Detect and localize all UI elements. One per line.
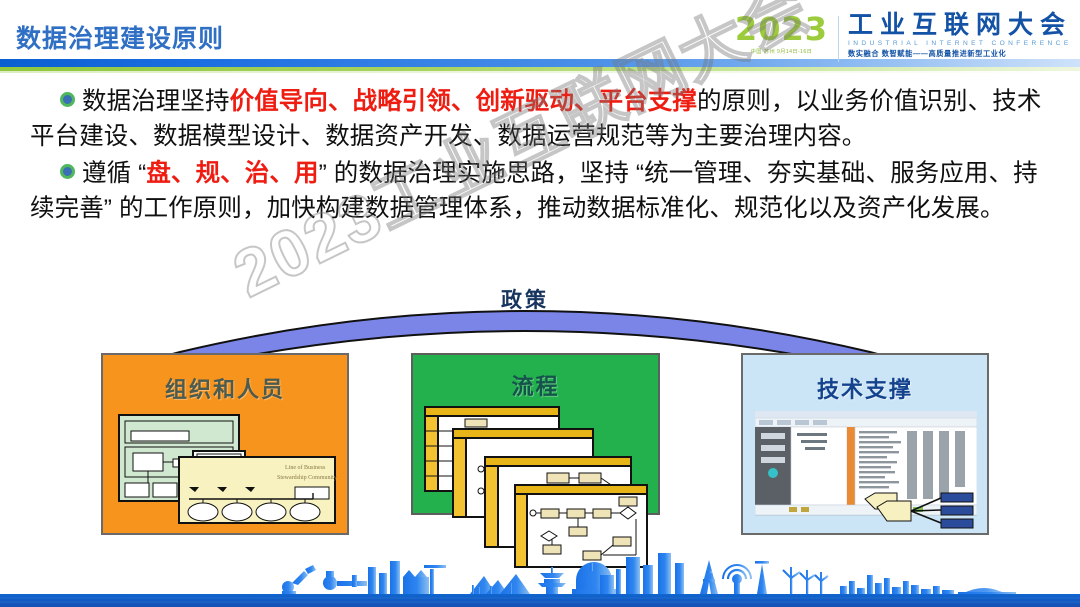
panel-organization[interactable]: 组织和人员 Line of Business Stewardship Commu…	[101, 353, 349, 535]
paragraph-text: 数据治理坚持	[82, 88, 230, 115]
page-title: 数据治理建设原则	[16, 19, 224, 55]
emphasis-text: 价值导向、战略引领、创新驱动、平台支撑	[230, 88, 697, 115]
content-body: 数据治理坚持价值导向、战略引领、创新驱动、平台支撑的原则，以业务价值识别、技术平…	[30, 84, 1050, 228]
content-paragraph: 遵循 “盘、规、治、用” 的数据治理实施思路，坚持 “统一管理、夯实基础、服务应…	[30, 156, 1050, 226]
panel-technology[interactable]: 技术支撑	[741, 353, 989, 535]
bullet-icon	[60, 92, 75, 107]
skyline-decoration	[0, 545, 1080, 607]
panel-technology-label: 技术支撑	[743, 372, 987, 404]
paragraph-text: 遵循 “	[82, 160, 146, 187]
logo-date: 中国·苏州 9月14日-16日	[735, 48, 828, 55]
header-rule-pale	[0, 71, 1080, 73]
content-paragraph: 数据治理坚持价值导向、战略引领、创新驱动、平台支撑的原则，以业务价值识别、技术平…	[30, 84, 1050, 154]
panel-organization-label: 组织和人员	[103, 372, 347, 404]
slide-root: 数据治理建设原则 2023 中国·苏州 9月14日-16日 工业互联网大会 IN…	[0, 0, 1080, 607]
logo-year: 2023	[735, 12, 828, 46]
panel-technology-thumbnail	[755, 411, 977, 529]
slide-footer	[0, 545, 1080, 607]
svg-text:Line of Business: Line of Business	[285, 464, 326, 471]
panel-organization-thumbnail: Line of Business Stewardship Community	[117, 413, 337, 525]
logo-year-block: 2023 中国·苏州 9月14日-16日	[735, 12, 838, 55]
panel-process-label: 流程	[413, 369, 658, 401]
svg-text:Stewardship Community: Stewardship Community	[277, 475, 337, 481]
conference-logo: 2023 中国·苏州 9月14日-16日 工业互联网大会 INDUSTRIAL …	[735, 12, 1072, 68]
logo-name-block: 工业互联网大会 INDUSTRIAL INTERNET CONFERENCE 数…	[848, 12, 1072, 59]
panel-process[interactable]: 流程	[411, 353, 660, 515]
bullet-icon	[60, 164, 75, 179]
logo-divider	[838, 16, 839, 62]
slide-header: 数据治理建设原则 2023 中国·苏州 9月14日-16日 工业互联网大会 IN…	[0, 0, 1080, 78]
policy-arc-label: 政策	[140, 284, 910, 314]
logo-name-cn: 工业互联网大会	[848, 12, 1072, 39]
logo-name-en: INDUSTRIAL INTERNET CONFERENCE	[848, 40, 1072, 47]
emphasis-text: 盘、规、治、用	[146, 160, 318, 187]
logo-tagline: 数实融合 数智赋能——高质量推进新型工业化	[848, 49, 1072, 59]
